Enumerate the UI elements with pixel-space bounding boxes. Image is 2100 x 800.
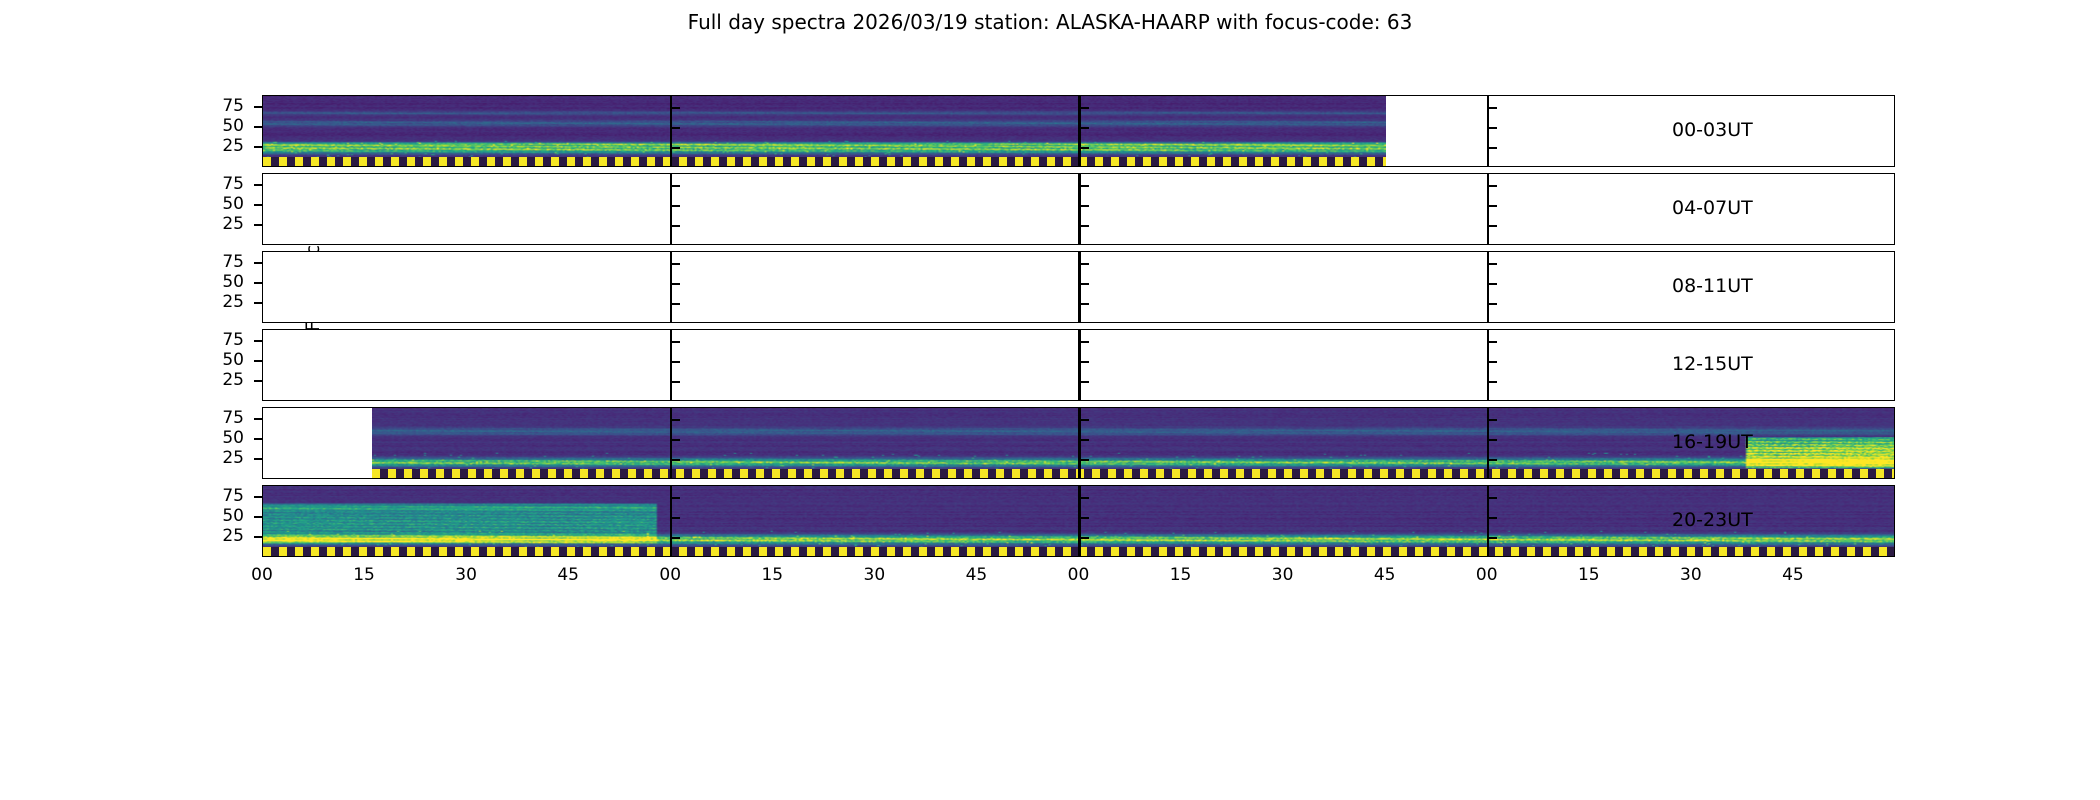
x-tick-label: 30 [1253, 565, 1313, 585]
divider-y-tick [672, 303, 680, 305]
x-tick-label: 45 [1763, 565, 1823, 585]
row-label-04-07: 04-07UT [1672, 197, 1753, 219]
row-label-00-03: 00-03UT [1672, 119, 1753, 141]
y-tick-label: 25 [188, 214, 244, 234]
x-tick-label: 15 [334, 565, 394, 585]
divider-y-tick [1081, 341, 1089, 343]
divider-y-tick [1489, 439, 1497, 441]
y-tick-mark [254, 106, 262, 108]
divider-y-tick [1489, 263, 1497, 265]
y-tick-mark [254, 126, 262, 128]
spectrogram-row-04-07[interactable]: 255075 [262, 173, 1895, 245]
divider-y-tick [1081, 263, 1089, 265]
spectrogram-data-00-03 [263, 96, 1386, 166]
divider-y-tick [672, 517, 680, 519]
divider-y-tick [1489, 419, 1497, 421]
row-label-20-23: 20-23UT [1672, 509, 1753, 531]
y-tick-mark [254, 380, 262, 382]
divider-y-tick [1081, 459, 1089, 461]
y-tick-label: 50 [188, 116, 244, 136]
divider-y-tick [672, 283, 680, 285]
plot-area-04-07[interactable] [262, 173, 1895, 245]
y-tick-label: 25 [188, 526, 244, 546]
divider-y-tick [1489, 225, 1497, 227]
divider-y-tick [1489, 107, 1497, 109]
y-tick-label: 50 [188, 350, 244, 370]
y-tick-mark [254, 516, 262, 518]
row-label-08-11: 08-11UT [1672, 275, 1753, 297]
y-tick-label: 25 [188, 292, 244, 312]
y-tick-label: 50 [188, 428, 244, 448]
divider-y-tick [1489, 127, 1497, 129]
divider-y-tick [1081, 497, 1089, 499]
y-tick-label: 50 [188, 194, 244, 214]
y-tick-mark [254, 536, 262, 538]
divider-y-tick [1489, 185, 1497, 187]
divider-y-tick [672, 185, 680, 187]
plot-area-12-15[interactable] [262, 329, 1895, 401]
divider-y-tick [1081, 127, 1089, 129]
x-tick-label: 45 [1355, 565, 1415, 585]
spectrogram-data-16-19 [372, 408, 1895, 478]
marker-strip-16-19 [372, 469, 1895, 478]
x-tick-label: 00 [640, 565, 700, 585]
divider-y-tick [1081, 205, 1089, 207]
x-tick-label: 30 [1661, 565, 1721, 585]
divider-y-tick [672, 225, 680, 227]
row-label-12-15: 12-15UT [1672, 353, 1753, 375]
divider-y-tick [1081, 283, 1089, 285]
y-tick-mark [254, 360, 262, 362]
y-tick-label: 75 [188, 174, 244, 194]
y-tick-mark [254, 458, 262, 460]
divider-y-tick [1081, 439, 1089, 441]
x-tick-label: 45 [946, 565, 1006, 585]
plot-area-08-11[interactable] [262, 251, 1895, 323]
divider-y-tick [672, 497, 680, 499]
y-tick-mark [254, 496, 262, 498]
divider-y-tick [1081, 517, 1089, 519]
y-tick-mark [254, 282, 262, 284]
spectra-figure: Full day spectra 2026/03/19 station: ALA… [0, 0, 2100, 800]
plot-area-00-03[interactable] [262, 95, 1895, 167]
y-tick-mark [254, 340, 262, 342]
spectrogram-canvas-16-19 [372, 408, 1895, 478]
x-tick-label: 15 [1559, 565, 1619, 585]
x-tick-label: 15 [1151, 565, 1211, 585]
y-tick-label: 75 [188, 408, 244, 428]
divider-y-tick [672, 127, 680, 129]
y-tick-label: 50 [188, 506, 244, 526]
y-tick-mark [254, 224, 262, 226]
divider-y-tick [672, 147, 680, 149]
y-tick-label: 25 [188, 370, 244, 390]
plot-area-16-19[interactable] [262, 407, 1895, 479]
y-tick-mark [254, 184, 262, 186]
spectrogram-row-16-19[interactable]: 255075 [262, 407, 1895, 479]
y-tick-label: 25 [188, 136, 244, 156]
divider-y-tick [672, 205, 680, 207]
divider-y-tick [1489, 537, 1497, 539]
divider-y-tick [1489, 147, 1497, 149]
divider-y-tick [1489, 517, 1497, 519]
y-tick-label: 75 [188, 252, 244, 272]
divider-y-tick [1081, 303, 1089, 305]
divider-y-tick [1489, 341, 1497, 343]
y-tick-mark [254, 204, 262, 206]
x-tick-label: 00 [232, 565, 292, 585]
divider-y-tick [1081, 147, 1089, 149]
divider-y-tick [1489, 497, 1497, 499]
y-tick-mark [254, 262, 262, 264]
y-tick-label: 75 [188, 486, 244, 506]
divider-y-tick [1081, 185, 1089, 187]
divider-y-tick [672, 459, 680, 461]
y-tick-mark [254, 146, 262, 148]
divider-y-tick [1081, 419, 1089, 421]
x-tick-label: 00 [1457, 565, 1517, 585]
y-tick-label: 50 [188, 272, 244, 292]
y-tick-label: 25 [188, 448, 244, 468]
divider-y-tick [1081, 381, 1089, 383]
row-label-16-19: 16-19UT [1672, 431, 1753, 453]
divider-y-tick [672, 263, 680, 265]
plot-area-20-23[interactable] [262, 485, 1895, 557]
divider-y-tick [1489, 459, 1497, 461]
divider-y-tick [672, 419, 680, 421]
page-title: Full day spectra 2026/03/19 station: ALA… [0, 10, 2100, 34]
divider-y-tick [672, 341, 680, 343]
spectrogram-canvas-00-03 [263, 96, 1386, 166]
spectrogram-row-00-03[interactable]: 255075 [262, 95, 1895, 167]
divider-y-tick [672, 381, 680, 383]
y-tick-label: 75 [188, 96, 244, 116]
divider-y-tick [672, 439, 680, 441]
divider-y-tick [1081, 107, 1089, 109]
divider-y-tick [1489, 283, 1497, 285]
divider-y-tick [672, 361, 680, 363]
spectrogram-row-20-23[interactable]: 255075 [262, 485, 1895, 557]
y-tick-mark [254, 302, 262, 304]
divider-y-tick [1081, 537, 1089, 539]
y-tick-label: 75 [188, 330, 244, 350]
x-tick-label: 45 [538, 565, 598, 585]
divider-y-tick [1081, 361, 1089, 363]
x-tick-label: 30 [844, 565, 904, 585]
y-tick-mark [254, 438, 262, 440]
divider-y-tick [672, 537, 680, 539]
spectrogram-row-08-11[interactable]: 255075 [262, 251, 1895, 323]
x-tick-label: 15 [742, 565, 802, 585]
divider-y-tick [672, 107, 680, 109]
x-tick-label: 00 [1049, 565, 1109, 585]
divider-y-tick [1489, 205, 1497, 207]
y-tick-mark [254, 418, 262, 420]
spectrogram-row-12-15[interactable]: 255075 [262, 329, 1895, 401]
x-tick-label: 30 [436, 565, 496, 585]
divider-y-tick [1081, 225, 1089, 227]
marker-strip-00-03 [263, 157, 1386, 166]
divider-y-tick [1489, 361, 1497, 363]
divider-y-tick [1489, 303, 1497, 305]
divider-y-tick [1489, 381, 1497, 383]
